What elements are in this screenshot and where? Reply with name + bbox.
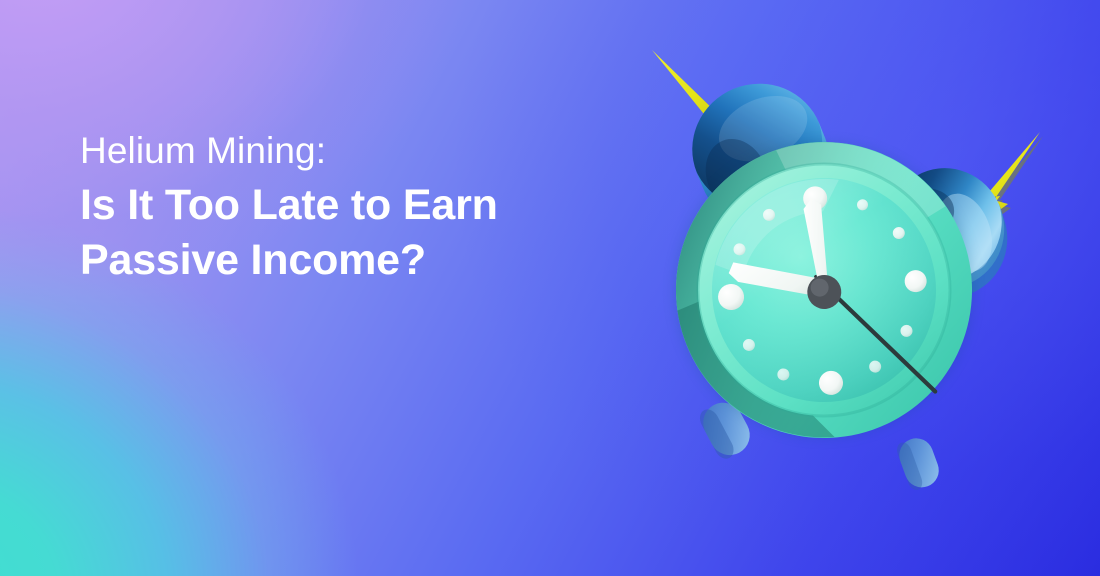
page-title: Is It Too Late to Earn Passive Income? xyxy=(80,178,620,288)
page-title-line-2: Passive Income? xyxy=(80,233,620,288)
page-title-line-1: Is It Too Late to Earn xyxy=(80,178,620,233)
alarm-clock-illustration xyxy=(628,28,1068,508)
headline-block: Helium Mining: Is It Too Late to Earn Pa… xyxy=(80,128,620,288)
clock-leg-right xyxy=(895,434,944,493)
headline-kicker: Helium Mining: xyxy=(80,128,620,174)
hero-banner: Helium Mining: Is It Too Late to Earn Pa… xyxy=(0,0,1100,576)
